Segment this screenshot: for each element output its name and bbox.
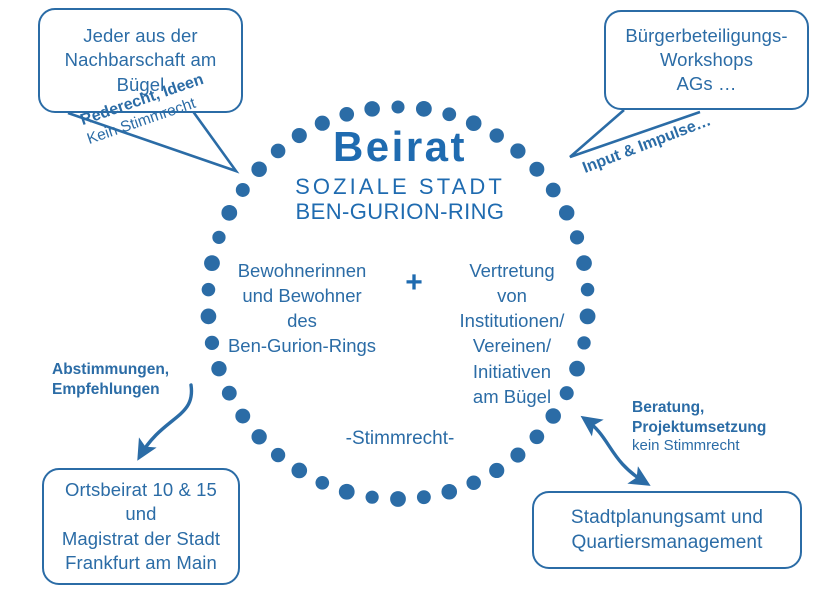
ring-dot — [510, 448, 525, 463]
institutions-column: Vertretung von Institutionen/ Vereinen/ … — [437, 258, 587, 409]
ring-dot — [489, 463, 504, 478]
ring-dot — [212, 231, 225, 244]
plus-icon: + — [391, 258, 437, 298]
ring-dot — [339, 107, 354, 122]
box-line: Ortsbeirat 10 & 15 — [62, 478, 220, 502]
label-beratung-line2: Projektumsetzung — [632, 418, 766, 438]
box-stadtplanungsamt[interactable]: Stadtplanungsamt und Quartiersmanagement — [532, 491, 802, 569]
page-title: Beirat — [240, 126, 560, 169]
ring-dot — [315, 476, 329, 490]
institutions-line: am Bügel — [437, 384, 587, 409]
ring-dot — [466, 476, 481, 491]
label-beratung-line1: Beratung, — [632, 398, 766, 418]
box-ortsbeirat-text: Ortsbeirat 10 & 15 und Magistrat der Sta… — [62, 478, 220, 576]
title-subtitle-2: BEN-GURION-RING — [240, 199, 560, 224]
diagram-canvas: Beirat SOZIALE STADT BEN-GURION-RING Bew… — [0, 0, 820, 600]
title-subtitle: SOZIALE STADT — [240, 174, 560, 199]
institutions-line: Vereinen/ — [437, 333, 587, 358]
voting-rights-note: -Stimmrecht- — [300, 428, 500, 450]
ring-dot — [442, 107, 456, 121]
institutions-line: Vertretung — [437, 258, 587, 283]
center-title-block: Beirat SOZIALE STADT BEN-GURION-RING — [240, 126, 560, 224]
ring-dot — [441, 484, 457, 500]
bubble-line: Workshops — [625, 48, 787, 72]
ring-dot — [545, 408, 560, 423]
bubble-line: AGs … — [625, 72, 787, 96]
ring-dot — [417, 490, 431, 504]
label-abstimmungen-line2: Empfehlungen — [52, 380, 169, 400]
label-beratung: Beratung, Projektumsetzung kein Stimmrec… — [632, 398, 766, 456]
ring-dot — [559, 205, 574, 220]
box-line: Magistrat der Stadt — [62, 527, 220, 551]
institutions-line: von — [437, 283, 587, 308]
bubble-workshops-text: Bürgerbeteiligungs- Workshops AGs … — [625, 24, 787, 96]
ring-dot — [530, 429, 545, 444]
ring-dot — [271, 448, 285, 462]
ring-dot — [339, 484, 355, 500]
bubble-line: Jeder aus der — [65, 24, 217, 48]
ring-dot — [391, 100, 404, 113]
box-ortsbeirat[interactable]: Ortsbeirat 10 & 15 und Magistrat der Sta… — [42, 468, 240, 585]
residents-line: und Bewohner — [213, 283, 391, 308]
label-abstimmungen: Abstimmungen, Empfehlungen — [52, 360, 169, 399]
institutions-line: Initiativen — [437, 359, 587, 384]
bubble-line: Nachbarschaft am — [65, 48, 217, 72]
residents-column: Bewohnerinnen und Bewohner des Ben-Gurio… — [213, 258, 391, 359]
bubble-workshops[interactable]: Bürgerbeteiligungs- Workshops AGs … — [604, 10, 809, 110]
ring-dot — [291, 463, 307, 479]
box-line: Frankfurt am Main — [62, 551, 220, 575]
box-line: und — [62, 502, 220, 526]
residents-line: Ben-Gurion-Rings — [213, 333, 391, 358]
box-stadtplanungsamt-text: Stadtplanungsamt und Quartiersmanagement — [571, 505, 763, 556]
ring-dot — [221, 205, 237, 221]
label-abstimmungen-line1: Abstimmungen, — [52, 360, 169, 380]
ring-dot — [416, 101, 432, 117]
box-line: Stadtplanungsamt und — [571, 505, 763, 530]
ring-dot — [235, 409, 250, 424]
box-line: Quartiersmanagement — [571, 530, 763, 555]
membership-columns: Bewohnerinnen und Bewohner des Ben-Gurio… — [206, 258, 594, 409]
ring-dot — [570, 230, 584, 244]
ring-dot — [390, 491, 406, 507]
residents-line: des — [213, 308, 391, 333]
label-beratung-light: kein Stimmrecht — [632, 437, 766, 456]
institutions-line: Institutionen/ — [437, 308, 587, 333]
ring-dot — [364, 101, 380, 117]
bubble-line: Bürgerbeteiligungs- — [625, 24, 787, 48]
ring-dot — [251, 429, 266, 444]
residents-line: Bewohnerinnen — [213, 258, 391, 283]
ring-dot — [366, 491, 379, 504]
